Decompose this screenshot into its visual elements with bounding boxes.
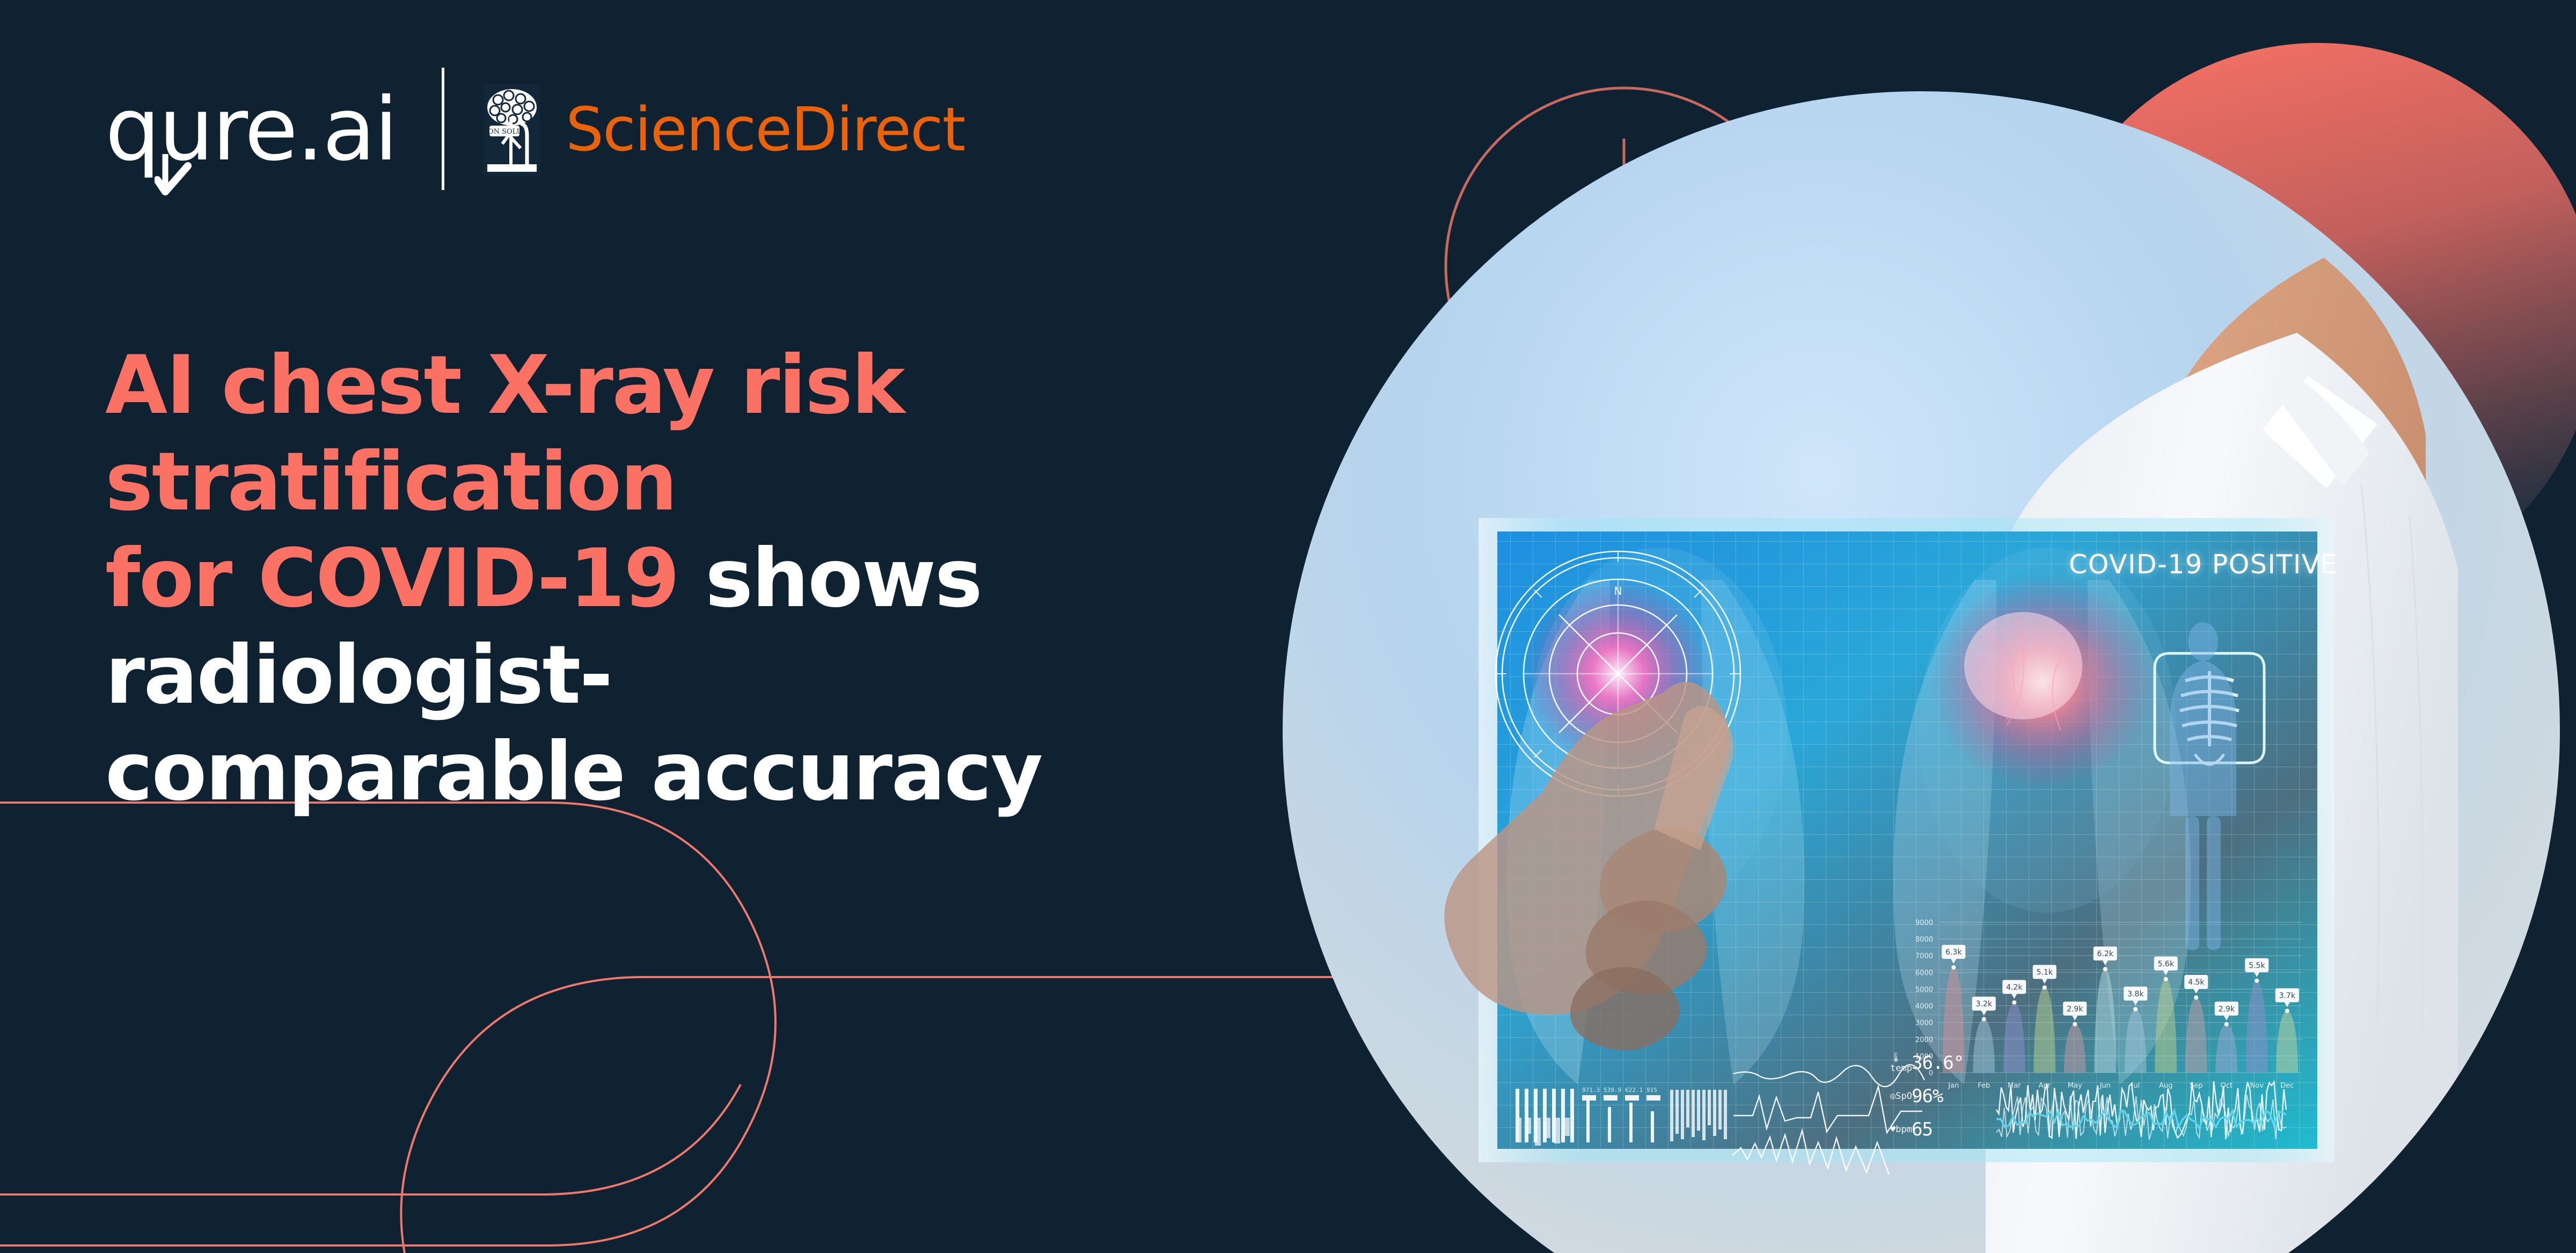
brand-divider	[442, 68, 444, 190]
data-point	[1951, 965, 1956, 970]
data-point	[2285, 1009, 2289, 1013]
page-headline: AI chest X-ray risk stratification for C…	[105, 337, 1404, 820]
medical-artwork: N	[1224, 0, 2576, 1253]
qure-ai-logo[interactable]: qure.ai	[105, 86, 397, 173]
data-label: 3.2k	[1976, 1000, 1993, 1008]
y-tick-label: 1000	[1915, 1053, 1933, 1061]
headline-line2-highlight: for COVID-19	[105, 532, 678, 625]
headline-line3: comparable accuracy	[105, 725, 1042, 819]
xray-screen-panel[interactable]: N	[1444, 518, 2334, 1175]
data-label: 5.6k	[2158, 960, 2175, 968]
x-tick-label: Feb	[1978, 1082, 1990, 1090]
y-tick-label: 4000	[1915, 1003, 1933, 1011]
x-tick-label: Jun	[2099, 1082, 2111, 1090]
qure-ai-logo-text: qure.ai	[105, 79, 397, 180]
x-tick-label: Aug	[2159, 1082, 2172, 1090]
data-point	[2103, 967, 2107, 971]
data-point	[2224, 1022, 2229, 1026]
bar-readout-2: 622.1	[1625, 1087, 1643, 1094]
y-tick-label: 8000	[1915, 936, 1933, 944]
data-label: 4.5k	[2188, 978, 2205, 987]
y-tick-label: 0	[1929, 1069, 1933, 1077]
data-point	[2012, 1000, 2016, 1004]
down-arrow-icon	[155, 154, 193, 203]
y-tick-label: 5000	[1915, 986, 1933, 994]
data-point	[1982, 1017, 1986, 1021]
x-tick-label: Nov	[2250, 1082, 2264, 1090]
data-point	[2133, 1007, 2138, 1011]
data-label: 3.7k	[2279, 992, 2296, 1000]
brand-header: qure.ai NON SOLUS ScienceDir	[105, 70, 965, 190]
x-tick-label: Apr	[2039, 1082, 2051, 1090]
x-tick-label: Dec	[2280, 1082, 2294, 1090]
sciencedirect-logo[interactable]: NON SOLUS ScienceDirect	[484, 84, 965, 176]
data-point	[2164, 977, 2168, 981]
data-label: 6.2k	[2097, 950, 2114, 958]
sciencedirect-wordmark: ScienceDirect	[566, 100, 965, 160]
elsevier-tree-icon: NON SOLUS	[484, 84, 540, 176]
bar-readout-3: 915	[1646, 1087, 1657, 1094]
data-label: 4.2k	[2006, 983, 2023, 992]
x-tick-label: Mar	[2008, 1082, 2021, 1090]
data-label: 3.8k	[2127, 990, 2144, 999]
x-tick-label: May	[2068, 1082, 2082, 1090]
x-tick-label: Jan	[1948, 1082, 1959, 1090]
data-label: 5.5k	[2249, 961, 2265, 970]
compass-north-label: N	[1614, 585, 1622, 598]
lesion-heatmap	[1929, 574, 2155, 789]
tree-motto: NON SOLUS	[484, 128, 527, 136]
data-label: 2.9k	[2219, 1005, 2235, 1014]
bar-readout-1: 539.9	[1604, 1087, 1621, 1094]
y-tick-label: 9000	[1915, 919, 1933, 927]
headline-line1: AI chest X-ray risk stratification	[105, 339, 904, 529]
data-point	[2073, 1022, 2077, 1026]
data-point	[2194, 995, 2198, 1000]
y-tick-label: 6000	[1915, 969, 1933, 977]
bar-readout-0: 971.3	[1582, 1087, 1600, 1094]
data-point	[2043, 985, 2047, 989]
y-tick-label: 7000	[1915, 952, 1933, 960]
data-label: 6.3k	[1945, 948, 1962, 957]
data-label: 5.1k	[2037, 968, 2053, 977]
data-label: 2.9k	[2067, 1005, 2083, 1014]
x-tick-label: Oct	[2221, 1082, 2233, 1090]
data-point	[2255, 979, 2259, 983]
y-tick-label: 3000	[1915, 1019, 1933, 1028]
y-tick-label: 2000	[1915, 1036, 1933, 1044]
